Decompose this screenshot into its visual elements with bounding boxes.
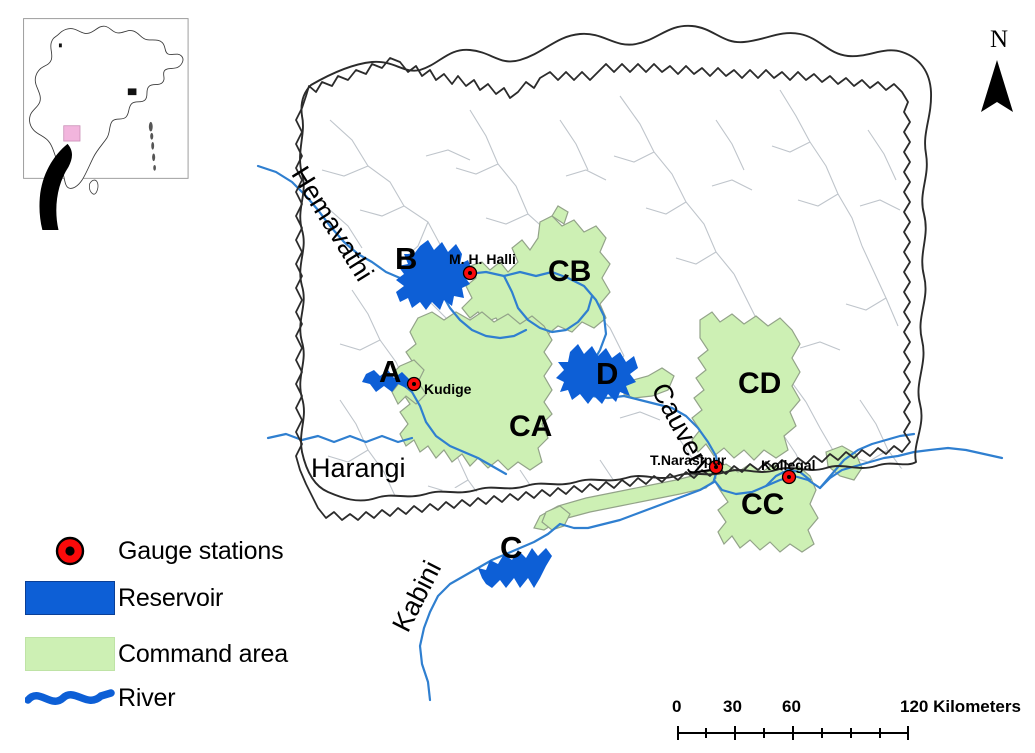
- scale-label-0: 0: [672, 697, 681, 717]
- reservoir-label-B: B: [395, 241, 417, 277]
- gauge-station-label-t-narasipur: T.Narasipur: [650, 452, 726, 468]
- gauge-station-label-kollegal: Kollegal: [761, 457, 815, 473]
- study-area-highlight: [64, 126, 80, 141]
- river-harangi: [268, 434, 412, 442]
- river-wave-icon: [22, 685, 118, 711]
- scale-label-120: 120 Kilometers: [900, 697, 1021, 717]
- legend-label-gauge-stations: Gauge stations: [118, 539, 283, 564]
- scale-bar: 0 30 60 120 Kilometers: [672, 697, 1022, 745]
- gauge-station-label-mh-halli: M. H. Halli: [449, 251, 516, 267]
- legend-item-command-area: Command area: [22, 637, 352, 671]
- india-locator-inset: [10, 10, 238, 230]
- gauge-station-icon: [22, 535, 118, 567]
- gauge-station-label-kudige: Kudige: [424, 381, 471, 397]
- scale-bar-ticks: [672, 721, 1022, 743]
- command-area-label-CC: CC: [741, 488, 784, 522]
- legend-label-river: River: [118, 686, 175, 711]
- reservoir-label-C: C: [500, 530, 522, 566]
- sri-lanka: [90, 180, 98, 194]
- river-label-harangi: Harangi: [311, 453, 406, 484]
- river-network-layer: [258, 166, 1002, 700]
- reservoir-label-A: A: [379, 354, 401, 390]
- command-area-label-CA: CA: [509, 410, 552, 444]
- command-area-label-CD: CD: [738, 367, 781, 401]
- legend-item-reservoir: Reservoir: [22, 581, 352, 615]
- command-area-label-CB: CB: [548, 255, 591, 289]
- north-arrow: [981, 60, 1013, 112]
- river-kabini: [420, 524, 560, 700]
- scale-label-60: 60: [782, 697, 801, 717]
- scale-label-30: 30: [723, 697, 742, 717]
- legend-label-command-area: Command area: [118, 642, 288, 667]
- command-area-swatch-icon: [22, 637, 118, 671]
- reservoir-label-D: D: [596, 356, 618, 392]
- legend-label-reservoir: Reservoir: [118, 586, 223, 611]
- reservoir-swatch-icon: [22, 581, 118, 615]
- map-legend: Gauge stations Reservoir Command area Ri…: [22, 535, 352, 711]
- legend-item-river: River: [22, 685, 352, 711]
- north-arrow-label: N: [990, 26, 1008, 54]
- map-figure: N A B C D CA CB CC CD Hemavathi: [0, 0, 1035, 753]
- legend-item-gauge-stations: Gauge stations: [22, 535, 352, 567]
